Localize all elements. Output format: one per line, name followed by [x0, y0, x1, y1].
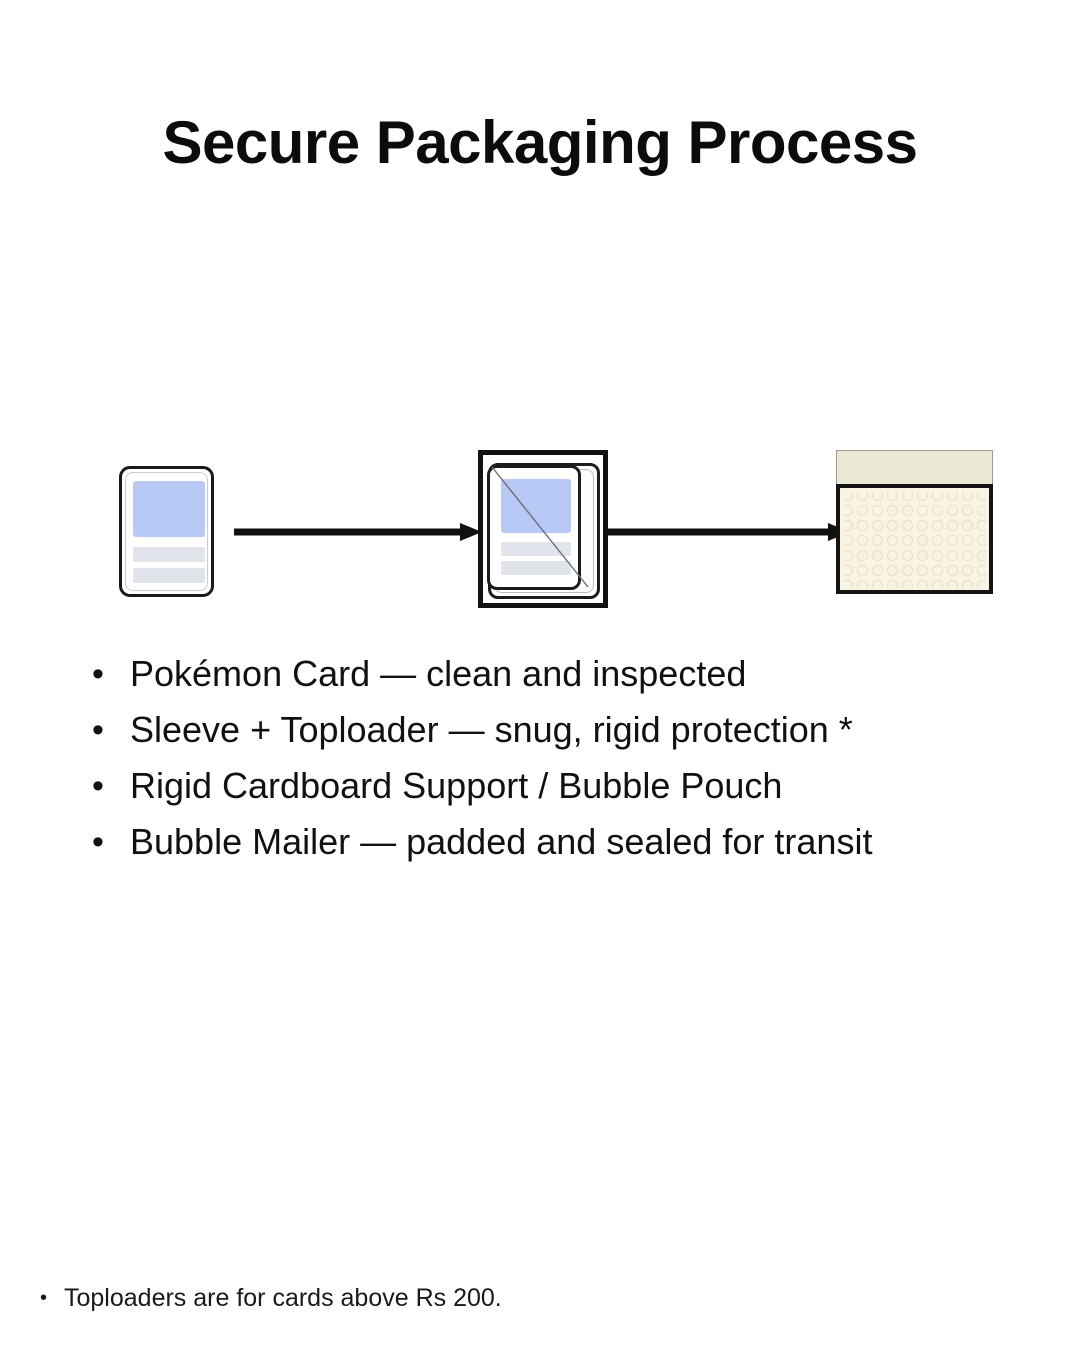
card-text-bar-2 — [501, 561, 571, 575]
list-item-label: Bubble Mailer — padded and sealed for tr… — [130, 816, 872, 868]
bullet-marker-icon: • — [92, 704, 130, 756]
footnote-bullet-icon: • — [40, 1281, 64, 1315]
arrow-2-icon — [606, 521, 850, 543]
list-item: • Bubble Mailer — padded and sealed for … — [92, 816, 1052, 872]
list-item-label: Rigid Cardboard Support / Bubble Pouch — [130, 760, 782, 812]
list-item: • Rigid Cardboard Support / Bubble Pouch — [92, 760, 1052, 816]
footnote-label: Toploaders are for cards above Rs 200. — [64, 1281, 502, 1315]
page-title: Secure Packaging Process — [0, 106, 1080, 180]
bullet-marker-icon: • — [92, 760, 130, 812]
footnote: • Toploaders are for cards above Rs 200. — [40, 1281, 502, 1315]
mailer-flap — [836, 450, 993, 486]
arrow-1-icon — [232, 521, 482, 543]
bullet-marker-icon: • — [92, 816, 130, 868]
bullet-marker-icon: • — [92, 648, 130, 700]
list-item: • Sleeve + Toploader — snug, rigid prote… — [92, 704, 1052, 760]
card-artwork-area — [501, 479, 571, 533]
envelope-icon — [836, 484, 993, 594]
list-item: • Pokémon Card — clean and inspected — [92, 648, 1052, 704]
bubble-texture — [840, 488, 989, 590]
trading-card-icon — [119, 466, 214, 597]
slide-root: Secure Packaging Process — [0, 0, 1080, 1350]
card-text-bar-1 — [501, 542, 571, 556]
sleeved-trading-card-icon — [487, 465, 581, 590]
card-text-bar-2 — [133, 568, 205, 583]
card-artwork-area — [133, 481, 205, 537]
packaging-steps-list: • Pokémon Card — clean and inspected • S… — [92, 648, 1052, 872]
list-item-label: Pokémon Card — clean and inspected — [130, 648, 746, 700]
list-item-label: Sleeve + Toploader — snug, rigid protect… — [130, 704, 853, 756]
card-text-bar-1 — [133, 547, 205, 562]
